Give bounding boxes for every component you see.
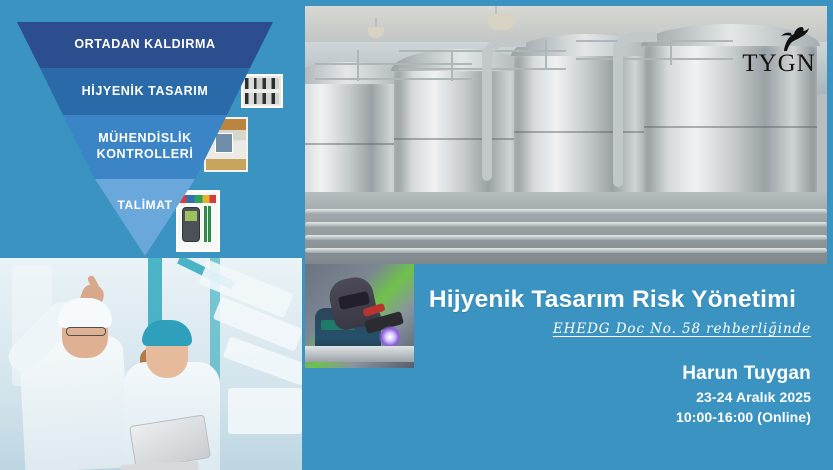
floor-pipe-1 <box>305 209 827 214</box>
seminar-info-panel: Hijyenik Tasarım Risk Yönetimi EHEDG Doc… <box>414 264 833 470</box>
inspectors-photo <box>0 258 302 470</box>
bird-icon <box>779 24 813 52</box>
welding-arc-glow <box>379 326 401 348</box>
floor-pipe-2 <box>305 222 827 227</box>
catwalk-rail-2 <box>315 78 472 80</box>
inspector-man-glasses <box>66 327 106 336</box>
pyramid-band-shape-4 <box>17 179 273 256</box>
rail-post-1 <box>357 50 359 81</box>
rail-post-2 <box>451 50 453 81</box>
floor-pipe-3 <box>305 235 827 240</box>
catwalk-rail-1 <box>315 63 472 65</box>
seminar-date: 23-24 Aralık 2025 <box>696 389 811 405</box>
seminar-poster: ORTADAN KALDIRMA HİJYENİK TASARIM MÜHEND… <box>0 0 833 470</box>
pyramid-level-label-4: TALİMAT <box>117 198 172 213</box>
ceiling-lamp-1 <box>368 27 384 38</box>
logo-wordmark: TYGN <box>742 51 815 76</box>
gooseneck-pipe-1 <box>482 47 492 181</box>
pyramid-level-label-3-line2: KONTROLLERİ <box>97 147 194 161</box>
pyramid-level-label-1: ORTADAN KALDIRMA <box>74 37 215 53</box>
pyramid-level-label-2: HİJYENİK TASARIM <box>82 84 209 100</box>
pyramid-level-hijyenik-tasarim: HİJYENİK TASARIM <box>17 68 273 115</box>
pyramid-level-ortadan-kaldirma: ORTADAN KALDIRMA <box>17 22 273 68</box>
seminar-title: Hijyenik Tasarım Risk Yönetimi <box>414 286 811 314</box>
seminar-time: 10:00-16:00 (Online) <box>676 409 811 425</box>
factory-tanks-photo: TYGN <box>305 6 827 264</box>
machine-cabinet <box>228 388 302 434</box>
pipe-bank <box>305 192 827 264</box>
process-tank-3 <box>514 50 655 194</box>
ceiling-lamp-2 <box>488 14 514 30</box>
seminar-subtitle: EHEDG Doc No. 58 rehberliğinde <box>553 321 811 337</box>
welded-pipe <box>305 346 414 362</box>
rail-post-3 <box>545 40 547 71</box>
pyramid-level-talimat: TALİMAT <box>17 179 273 256</box>
speaker-name: Harun Tuygan <box>682 363 811 385</box>
pyramid-level-muhendislik-kontrolleri: MÜHENDİSLİK KONTROLLERİ <box>17 115 273 179</box>
inspector-man-hairnet <box>58 298 112 328</box>
gooseneck-pipe-2 <box>613 42 623 186</box>
pyramid-panel: ORTADAN KALDIRMA HİJYENİK TASARIM MÜHEND… <box>0 0 300 258</box>
hierarchy-pyramid: ORTADAN KALDIRMA HİJYENİK TASARIM MÜHEND… <box>17 22 273 256</box>
tygn-logo: TYGN <box>740 26 818 76</box>
floor-pipe-4 <box>305 248 827 253</box>
rail-post-4 <box>670 34 672 65</box>
process-tank-2 <box>394 65 530 194</box>
inspector-woman-hairnet <box>142 320 192 346</box>
pyramid-level-label-3: MÜHENDİSLİK KONTROLLERİ <box>97 131 194 162</box>
pyramid-level-label-3-line1: MÜHENDİSLİK <box>98 131 191 145</box>
welder-photo <box>305 264 414 368</box>
